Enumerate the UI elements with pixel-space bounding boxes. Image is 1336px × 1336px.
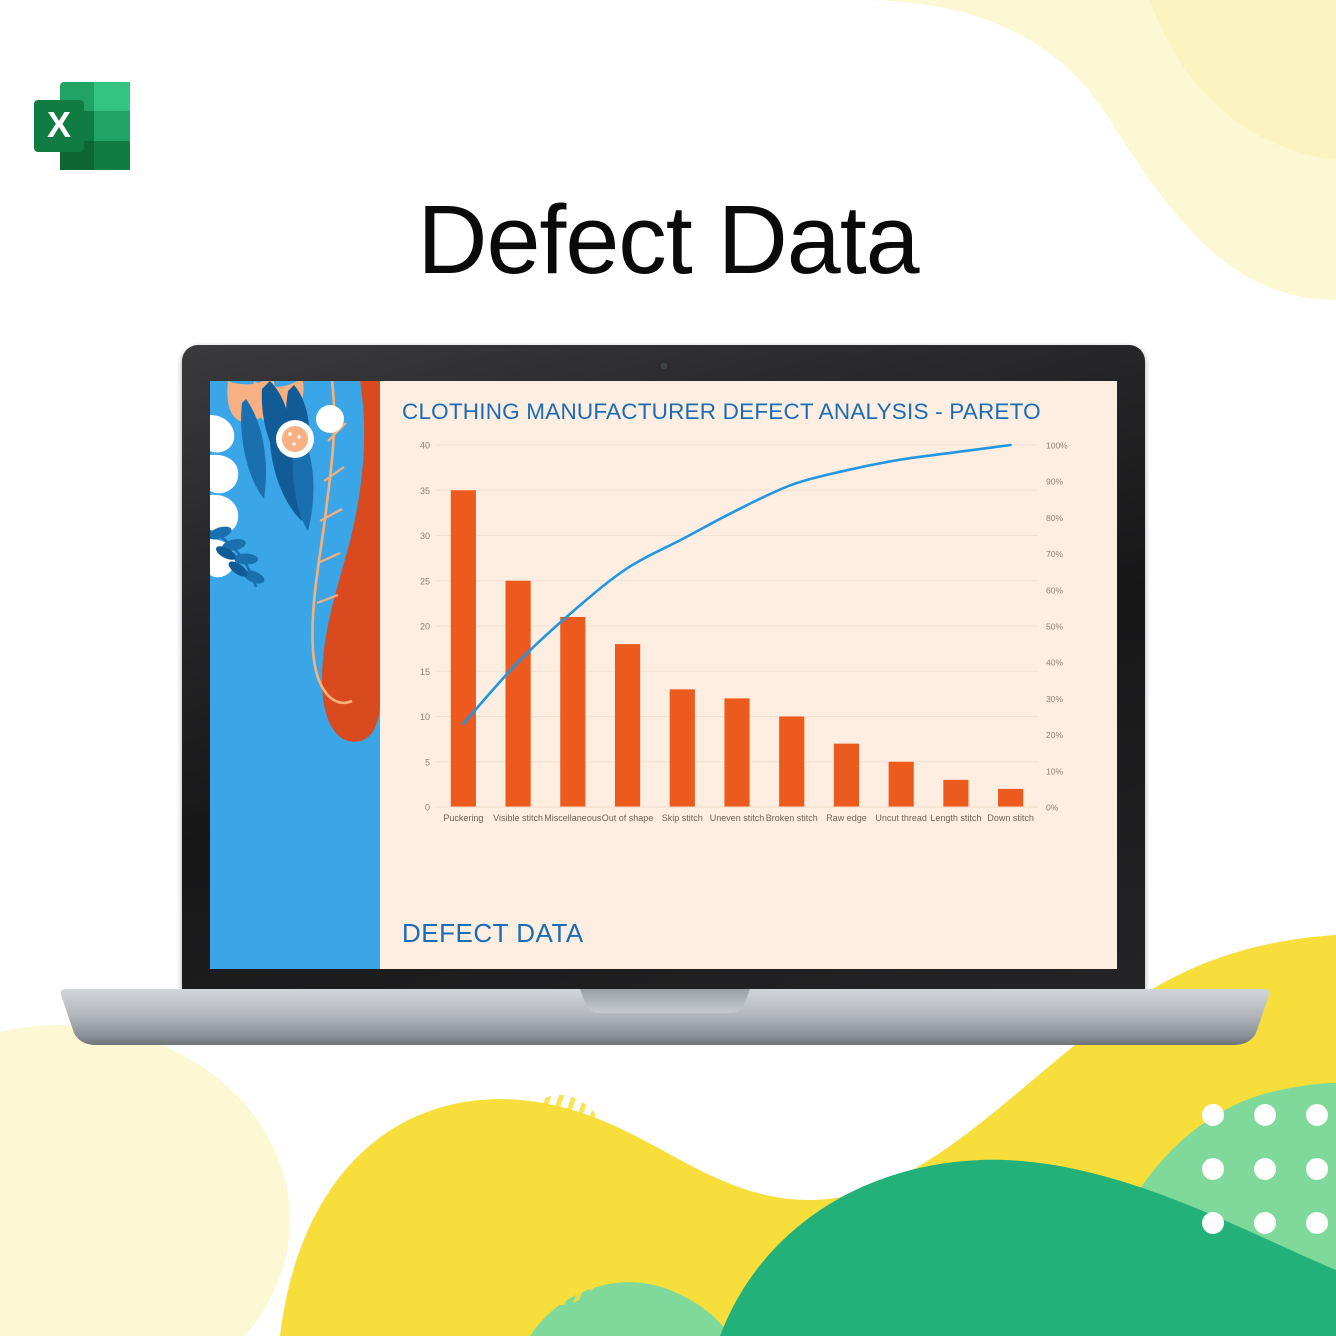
cumulative-percent-line xyxy=(463,445,1010,724)
y2-axis-tick-label: 80% xyxy=(1046,513,1063,523)
bar xyxy=(724,698,749,807)
bar xyxy=(998,789,1023,807)
laptop-lid: CLOTHING MANUFACTURER DEFECT ANALYSIS - … xyxy=(182,345,1145,993)
bar xyxy=(779,717,804,808)
bar xyxy=(451,490,476,807)
y-axis-tick-label: 15 xyxy=(420,667,430,677)
y2-axis-tick-label: 30% xyxy=(1046,694,1063,704)
page-title: Defect Data xyxy=(0,188,1336,292)
y2-axis-tick-label: 40% xyxy=(1046,658,1063,668)
slide-chart-panel: CLOTHING MANUFACTURER DEFECT ANALYSIS - … xyxy=(380,381,1117,969)
x-axis-category-label: Uncut thread xyxy=(875,813,927,823)
y2-axis-tick-label: 70% xyxy=(1046,549,1063,559)
bar xyxy=(943,780,968,807)
y2-axis-tick-label: 60% xyxy=(1046,585,1063,595)
y2-axis-tick-label: 90% xyxy=(1046,477,1063,487)
pareto-chart-svg: 05101520253035400%10%20%30%40%50%60%70%8… xyxy=(402,433,1088,853)
y-axis-tick-label: 10 xyxy=(420,712,430,722)
y-axis-tick-label: 25 xyxy=(420,576,430,586)
y-axis-tick-label: 20 xyxy=(420,622,430,632)
y2-axis-tick-label: 20% xyxy=(1046,730,1063,740)
y2-axis-tick-label: 0% xyxy=(1046,803,1059,813)
bar xyxy=(889,762,914,807)
y-axis-tick-label: 0 xyxy=(425,803,430,813)
y-axis-tick-label: 5 xyxy=(425,757,430,767)
laptop-mockup: CLOTHING MANUFACTURER DEFECT ANALYSIS - … xyxy=(60,345,1270,1045)
laptop-screen: CLOTHING MANUFACTURER DEFECT ANALYSIS - … xyxy=(210,381,1117,969)
floral-artwork xyxy=(210,381,380,941)
x-axis-category-label: Broken stitch xyxy=(766,813,818,823)
laptop-base xyxy=(60,989,1270,1045)
x-axis-category-label: Miscellaneous xyxy=(544,813,602,823)
pareto-chart: 05101520253035400%10%20%30%40%50%60%70%8… xyxy=(402,433,1101,863)
x-axis-category-label: Uneven stitch xyxy=(710,813,765,823)
bar xyxy=(615,644,640,807)
x-axis-category-label: Skip stitch xyxy=(662,813,703,823)
y-axis-tick-label: 40 xyxy=(420,441,430,451)
webcam-icon xyxy=(659,361,669,371)
excel-icon-letter: X xyxy=(47,104,71,145)
x-axis-category-label: Out of shape xyxy=(602,813,654,823)
slide-footer-label: DEFECT DATA xyxy=(402,918,584,949)
x-axis-category-label: Length stitch xyxy=(930,813,981,823)
y-axis-tick-label: 35 xyxy=(420,486,430,496)
bar xyxy=(560,617,585,807)
y-axis-tick-label: 30 xyxy=(420,531,430,541)
y2-axis-tick-label: 100% xyxy=(1046,441,1068,451)
x-axis-category-label: Raw edge xyxy=(826,813,867,823)
excel-icon: X xyxy=(30,78,134,174)
bar xyxy=(834,744,859,807)
x-axis-category-label: Visible stitch xyxy=(493,813,543,823)
bar xyxy=(670,689,695,807)
floral-decoration-panel xyxy=(210,381,380,969)
y2-axis-tick-label: 10% xyxy=(1046,766,1063,776)
x-axis-category-label: Down stitch xyxy=(987,813,1034,823)
y2-axis-tick-label: 50% xyxy=(1046,622,1063,632)
bar xyxy=(506,581,531,807)
chart-title: CLOTHING MANUFACTURER DEFECT ANALYSIS - … xyxy=(402,399,1101,425)
x-axis-category-label: Puckering xyxy=(443,813,483,823)
